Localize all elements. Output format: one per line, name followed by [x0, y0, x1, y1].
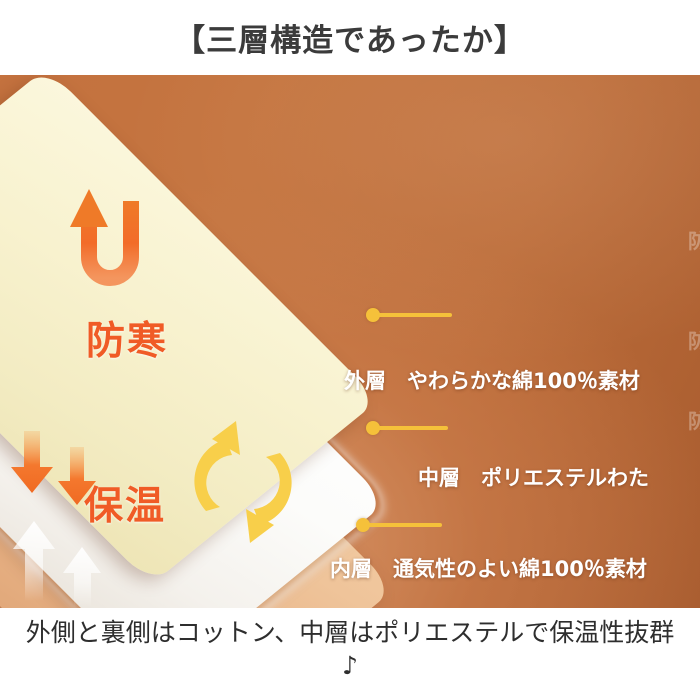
layer-caption-outer: 外層 やわらかな綿100％素材	[344, 365, 640, 395]
layer-caption-middle: 中層 ポリエステルわた	[418, 462, 649, 492]
callout-stem-inner	[366, 523, 442, 527]
footer-caption-bar: 外側と裏側はコットン、中層はポリエステルで保温性抜群♪	[0, 608, 700, 700]
edge-ghost-text-middle: 防	[688, 325, 700, 354]
callout-stem-middle	[376, 426, 448, 430]
inline-label-bokan: 防寒	[86, 310, 168, 366]
footer-caption: 外側と裏側はコットン、中層はポリエステルで保温性抜群♪	[20, 616, 680, 682]
page-title-bar: 【三層構造であったか】	[0, 0, 700, 75]
page-title: 【三層構造であったか】	[174, 15, 526, 60]
edge-ghost-text-top: 防	[688, 225, 700, 254]
layer-caption-inner: 内層 通気性のよい綿100％素材	[330, 553, 647, 583]
u-turn-arrow-icon	[66, 187, 162, 305]
edge-ghost-text-bottom: 防	[688, 405, 700, 434]
inline-label-hoon: 保温	[84, 475, 166, 531]
callout-stem-outer	[376, 313, 452, 317]
recycle-arrows-icon	[182, 415, 304, 547]
three-layer-illustration: 防寒 保温 外層 やわらかな綿100％素材 中層 ポリエステルわた 内層 通気性…	[0, 75, 700, 608]
